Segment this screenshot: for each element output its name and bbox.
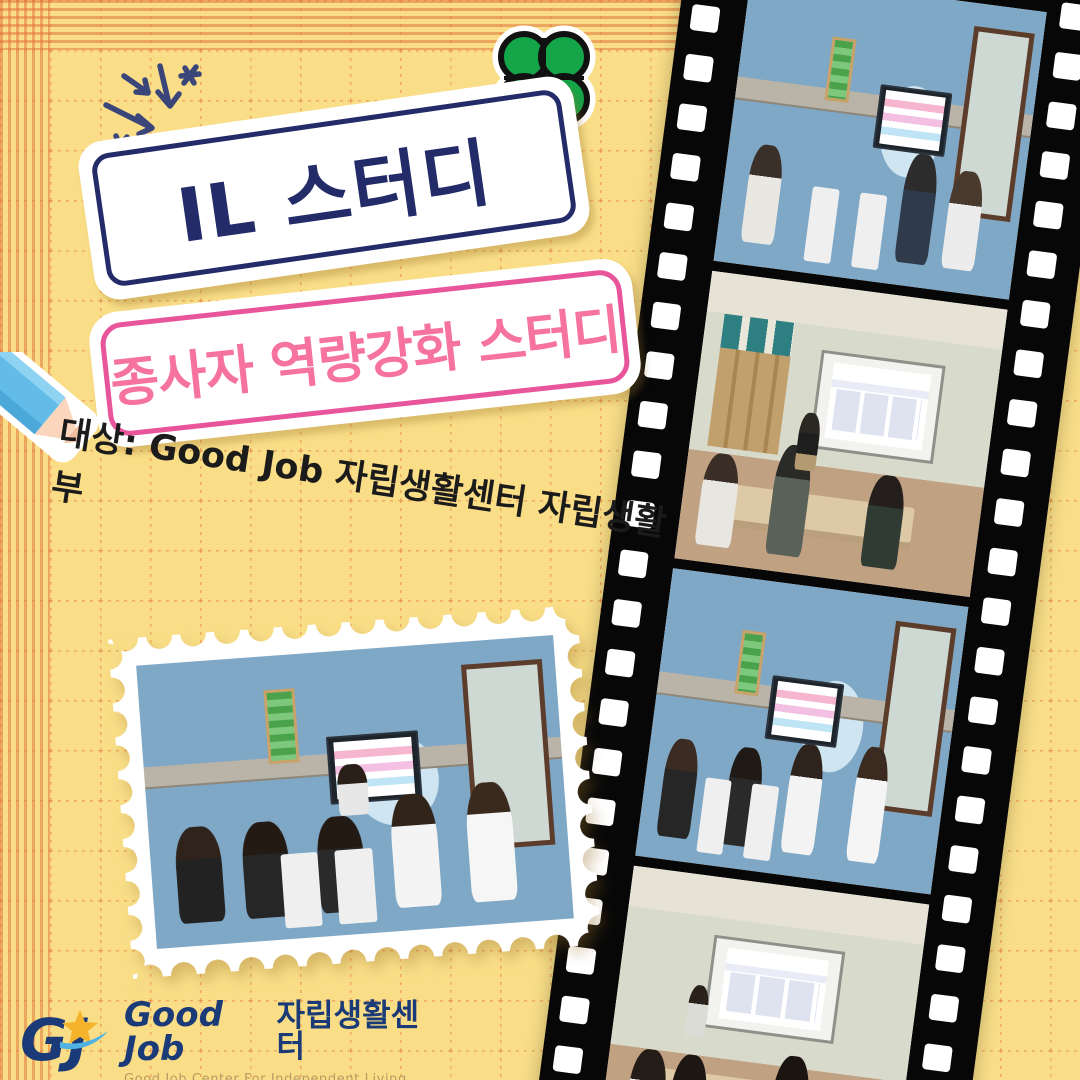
film-perforation [1052,52,1080,81]
logo-tagline: Good Job Center For Independent Living [124,1073,422,1080]
logo-name-en: Good Job [124,998,270,1066]
organization-logo: GJ Good Job 자립생활센터 Good Job Center For I… [22,1004,422,1076]
film-perforation [565,946,596,975]
film-perforation [644,351,675,380]
film-perforation [670,153,701,182]
film-perforation [941,894,972,923]
film-perforation [974,647,1005,676]
stamp-photo-card [108,605,602,979]
film-perforation [631,450,662,479]
film-perforation [1059,2,1080,31]
filmstrip-photo-2 [674,271,1007,597]
film-perforation [559,995,590,1024]
stamp-photo-image [136,635,574,949]
film-perforation [663,202,694,231]
film-perforation [1033,200,1064,229]
filmstrip-photo-3 [635,568,968,894]
filmstrip-photo-4 [596,866,929,1080]
logo-wordmark: Good Job 자립생활센터 Good Job Center For Inde… [124,994,422,1080]
film-perforation [967,696,998,725]
film-perforation [987,547,1018,576]
film-perforation [1026,250,1057,279]
film-perforation [948,845,979,874]
film-perforation [676,103,707,132]
film-perforation [928,994,959,1023]
film-perforation [598,698,629,727]
film-perforation [1046,101,1077,130]
film-perforation [650,301,681,330]
filmstrip-photo-1 [713,0,1046,300]
film-perforation [922,1043,953,1072]
gj-monogram-icon: GJ [22,1006,114,1074]
film-perforation [1020,300,1051,329]
film-perforation [1000,448,1031,477]
poster-canvas: IL 스터디 종사자 역량강화 스터디 대상: Good Job 자립생활센터 … [0,0,1080,1080]
film-perforation [552,1045,583,1074]
film-perforation [961,746,992,775]
film-perforation [657,252,688,281]
film-perforation [954,795,985,824]
film-perforation [1039,151,1070,180]
logo-name-kr: 자립생활센터 [277,1001,422,1063]
film-perforation [689,4,720,33]
film-perforation [1007,399,1038,428]
film-perforation [935,944,966,973]
film-perforation [637,400,668,429]
film-perforation [605,648,636,677]
film-perforation [981,597,1012,626]
film-perforation [994,498,1025,527]
film-perforation [1013,349,1044,378]
film-perforation [592,747,623,776]
film-perforation [683,53,714,82]
film-perforation [611,599,642,628]
